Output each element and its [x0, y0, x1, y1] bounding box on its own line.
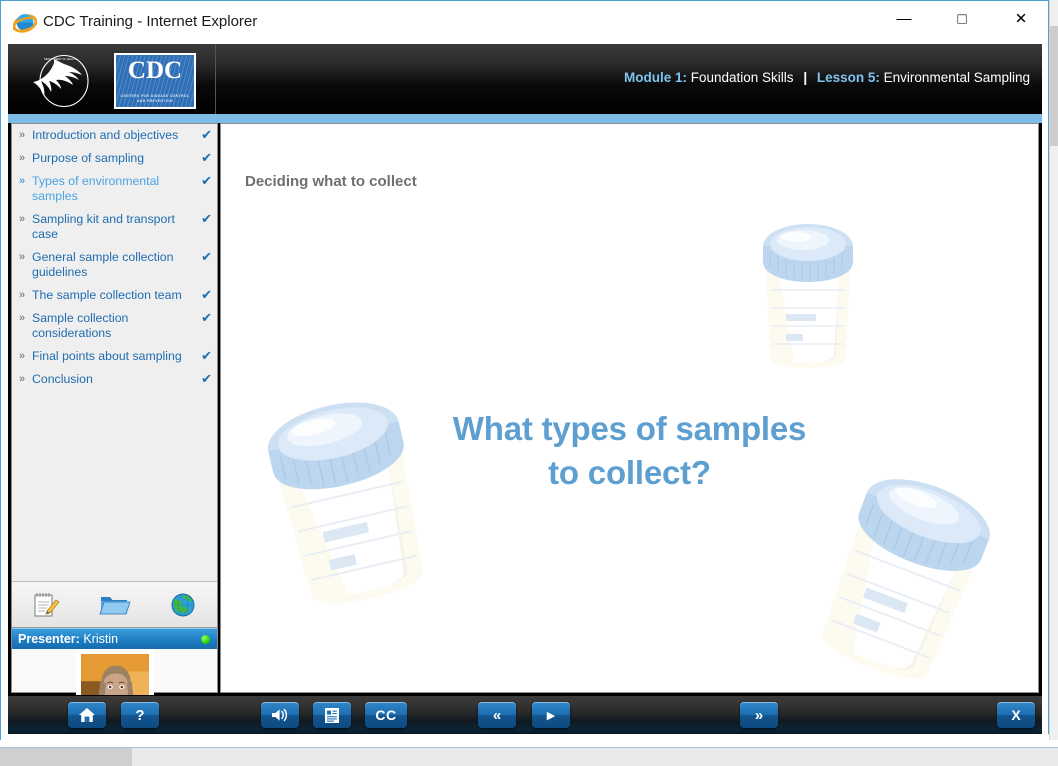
chevron-right-icon: » — [19, 288, 25, 303]
closed-captions-button[interactable]: CC — [365, 702, 407, 728]
window-title: CDC Training - Internet Explorer — [43, 13, 257, 30]
volume-button[interactable] — [261, 702, 299, 728]
navigation-sidebar: »Introduction and objectives✔»Purpose of… — [11, 123, 218, 693]
module-label: Module 1: — [624, 70, 687, 85]
sidebar-item-label: Purpose of sampling — [32, 151, 144, 165]
module-lesson-breadcrumb: Module 1: Foundation Skills | Lesson 5: … — [624, 70, 1030, 85]
sidebar-item-2[interactable]: »Types of environmental samples✔ — [12, 170, 217, 208]
maximize-button[interactable]: □ — [939, 1, 985, 37]
sidebar-item-4[interactable]: »General sample collection guidelines✔ — [12, 246, 217, 284]
page-title: Deciding what to collect — [245, 173, 417, 190]
chevron-right-icon: » — [19, 349, 25, 364]
specimen-cup-top-right — [748, 216, 868, 381]
help-icon: ? — [135, 707, 144, 724]
sidebar-item-1[interactable]: »Purpose of sampling✔ — [12, 147, 217, 170]
sidebar-item-label: Sample collection considerations — [32, 311, 128, 340]
slide-heading: What types of samples to collect? — [221, 407, 1038, 495]
sidebar-item-label: Final points about sampling — [32, 349, 182, 363]
header-divider — [215, 44, 216, 114]
slide-heading-line-2: to collect? — [221, 451, 1038, 495]
sidebar-item-8[interactable]: »Conclusion✔ — [12, 368, 217, 391]
table-of-contents: »Introduction and objectives✔»Purpose of… — [12, 124, 217, 581]
exit-button[interactable]: X — [997, 702, 1035, 728]
sidebar-item-label: Introduction and objectives — [32, 128, 178, 142]
cdc-logo-subtitle: CENTERS FOR DISEASE CONTROL AND PREVENTI… — [116, 94, 194, 104]
sidebar-item-3[interactable]: »Sampling kit and transport case✔ — [12, 208, 217, 246]
player-control-bar: ? — [8, 695, 1042, 734]
status-badge — [201, 635, 210, 644]
slide-stage: Deciding what to collect — [220, 123, 1039, 693]
sidebar-item-5[interactable]: »The sample collection team✔ — [12, 284, 217, 307]
chevron-right-icon: » — [19, 128, 25, 143]
maximize-icon: □ — [957, 12, 966, 27]
window-bottom-strip — [1, 734, 1050, 741]
page-scrollbar[interactable] — [1049, 0, 1058, 740]
notes-icon[interactable] — [29, 590, 63, 620]
transcript-button[interactable] — [313, 702, 351, 728]
chevron-right-icon: » — [19, 311, 25, 326]
presenter-name: Kristin — [83, 632, 118, 646]
taskbar-item[interactable] — [0, 748, 132, 766]
sidebar-item-label: General sample collection guidelines — [32, 250, 174, 279]
close-icon: ✕ — [1015, 12, 1028, 27]
chevron-double-right-icon: » — [755, 707, 763, 724]
slide-heading-line-1: What types of samples — [221, 407, 1038, 451]
sidebar-item-label: The sample collection team — [32, 288, 182, 302]
home-icon — [78, 707, 96, 723]
close-window-button[interactable]: ✕ — [998, 1, 1044, 37]
lesson-label: Lesson 5: — [817, 70, 880, 85]
hhs-eagle-seal: DEPARTMENT OF HEALTH — [30, 52, 102, 110]
cc-label: CC — [375, 707, 396, 723]
presenter-photo-container — [12, 649, 217, 692]
course-player: DEPARTMENT OF HEALTH CDC CENTERS FOR DIS… — [8, 44, 1042, 734]
taskbar — [0, 747, 1058, 766]
chevron-right-icon: » — [19, 174, 25, 189]
checkmark-icon: ✔ — [201, 371, 212, 386]
internet-explorer-icon — [13, 11, 37, 35]
checkmark-icon: ✔ — [201, 249, 212, 264]
minimize-icon: — — [897, 12, 912, 27]
presenter-info: Presenter: Kristin — [18, 632, 118, 646]
chevron-right-icon: » — [19, 212, 25, 227]
sidebar-item-label: Conclusion — [32, 372, 93, 386]
play-button[interactable]: ▶ — [532, 702, 570, 728]
home-button[interactable] — [68, 702, 106, 728]
checkmark-icon: ✔ — [201, 287, 212, 302]
next-slide-button[interactable]: » — [740, 702, 778, 728]
exit-icon: X — [1011, 707, 1020, 723]
sidebar-item-6[interactable]: »Sample collection considerations✔ — [12, 307, 217, 345]
sidebar-item-7[interactable]: »Final points about sampling✔ — [12, 345, 217, 368]
sidebar-item-label: Types of environmental samples — [32, 174, 159, 203]
chevron-right-icon: » — [19, 250, 25, 265]
help-button[interactable]: ? — [121, 702, 159, 728]
previous-slide-button[interactable]: « — [478, 702, 516, 728]
checkmark-icon: ✔ — [201, 211, 212, 226]
checkmark-icon: ✔ — [201, 173, 212, 188]
transcript-icon — [324, 707, 340, 724]
resources-folder-icon[interactable] — [97, 590, 131, 620]
sidebar-item-label: Sampling kit and transport case — [32, 212, 175, 241]
svg-text:DEPARTMENT OF HEALTH: DEPARTMENT OF HEALTH — [44, 57, 77, 61]
sidebar-item-0[interactable]: »Introduction and objectives✔ — [12, 124, 217, 147]
volume-icon — [270, 707, 290, 723]
presenter-label: Presenter: — [18, 632, 80, 646]
presenter-bar: Presenter: Kristin — [12, 628, 217, 650]
lesson-name: Environmental Sampling — [884, 70, 1030, 85]
chevron-right-icon: » — [19, 372, 25, 387]
checkmark-icon: ✔ — [201, 150, 212, 165]
module-name: Foundation Skills — [691, 70, 794, 85]
sidebar-toolbar — [12, 582, 217, 627]
branding-header: DEPARTMENT OF HEALTH CDC CENTERS FOR DIS… — [8, 44, 1042, 114]
checkmark-icon: ✔ — [201, 127, 212, 142]
cdc-logo-word: CDC — [116, 58, 194, 83]
breadcrumb-separator: | — [797, 70, 813, 85]
cdc-logo: CDC CENTERS FOR DISEASE CONTROL AND PREV… — [114, 53, 196, 109]
chevron-right-icon: » — [19, 151, 25, 166]
checkmark-icon: ✔ — [201, 348, 212, 363]
accent-band — [8, 114, 1042, 123]
web-links-globe-icon[interactable] — [166, 590, 200, 620]
play-icon: ▶ — [547, 709, 555, 722]
scrollbar-thumb[interactable] — [1050, 26, 1058, 146]
checkmark-icon: ✔ — [201, 310, 212, 325]
browser-window: CDC Training - Internet Explorer — □ ✕ — [0, 0, 1049, 740]
window-title-bar: CDC Training - Internet Explorer — □ ✕ — [1, 1, 1048, 46]
chevron-double-left-icon: « — [493, 707, 501, 724]
minimize-button[interactable]: — — [881, 1, 927, 37]
